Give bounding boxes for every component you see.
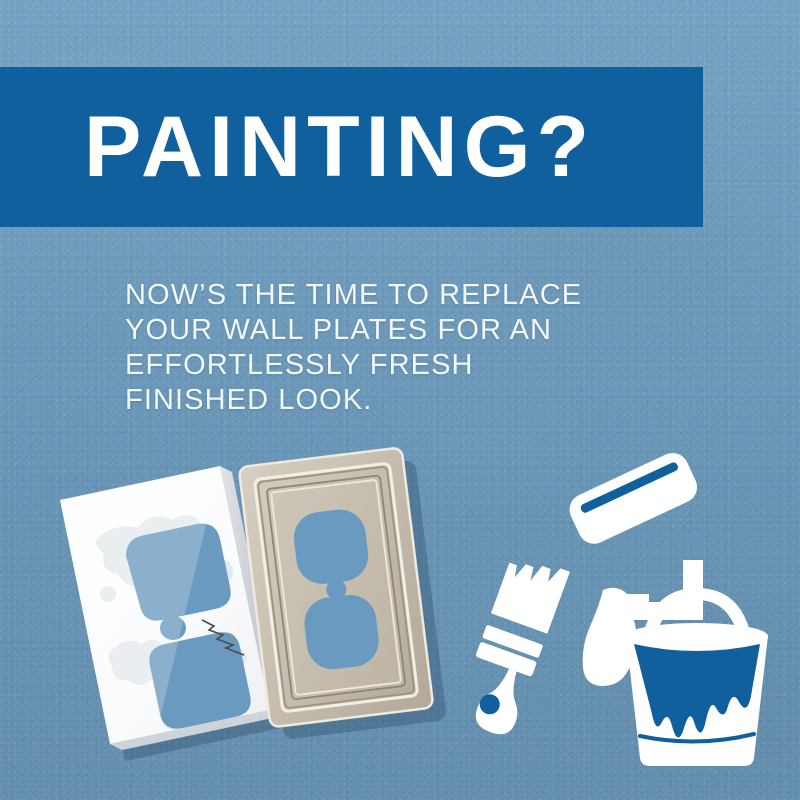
beige-plate-bottom-cutout [301,592,381,672]
roller-drum [565,448,702,549]
bucket-rim [626,623,768,649]
paint-brush-icon [452,552,582,737]
beige-plate-top-cutout [291,507,371,587]
paint-brush-body [453,552,571,737]
beige-wall-plate [225,430,455,760]
painting-promo-poster: PAINTING? NOW’S THE TIME TO REPLACE YOUR… [0,0,800,800]
brush-bristles [491,552,570,634]
roller-drum-group [565,448,702,549]
paint-bucket-icon [612,578,782,768]
illustration-group [0,0,800,800]
beige-plate-body [239,446,447,741]
